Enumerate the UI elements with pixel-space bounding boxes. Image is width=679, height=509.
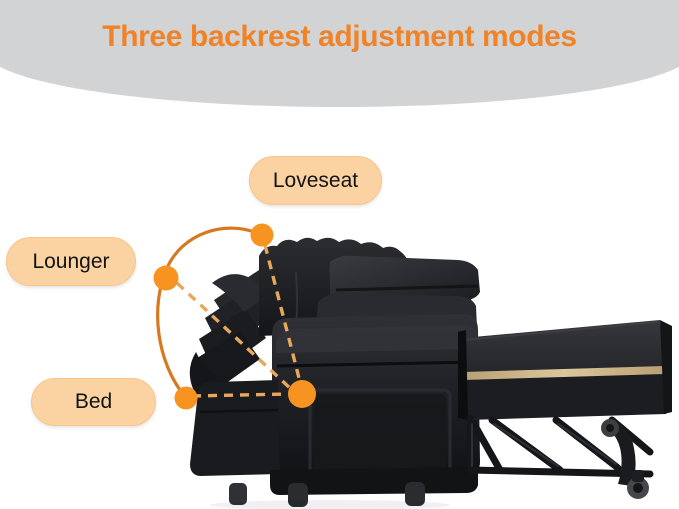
node-lounger[interactable] xyxy=(154,266,179,291)
label-pill-loveseat[interactable]: Loveseat xyxy=(249,156,382,205)
node-pivot-hinge[interactable] xyxy=(288,380,316,408)
label-pill-bed-text: Bed xyxy=(75,390,112,414)
label-pill-lounger-text: Lounger xyxy=(32,250,109,274)
node-bed[interactable] xyxy=(175,387,198,410)
label-pill-bed[interactable]: Bed xyxy=(31,378,156,426)
label-pill-lounger[interactable]: Lounger xyxy=(6,237,136,286)
label-pill-loveseat-text: Loveseat xyxy=(273,169,358,193)
product-callout-image: Three backrest adjustment modes Loveseat… xyxy=(0,0,679,509)
node-loveseat[interactable] xyxy=(251,224,274,247)
sofa-pullout-bed xyxy=(458,320,672,420)
